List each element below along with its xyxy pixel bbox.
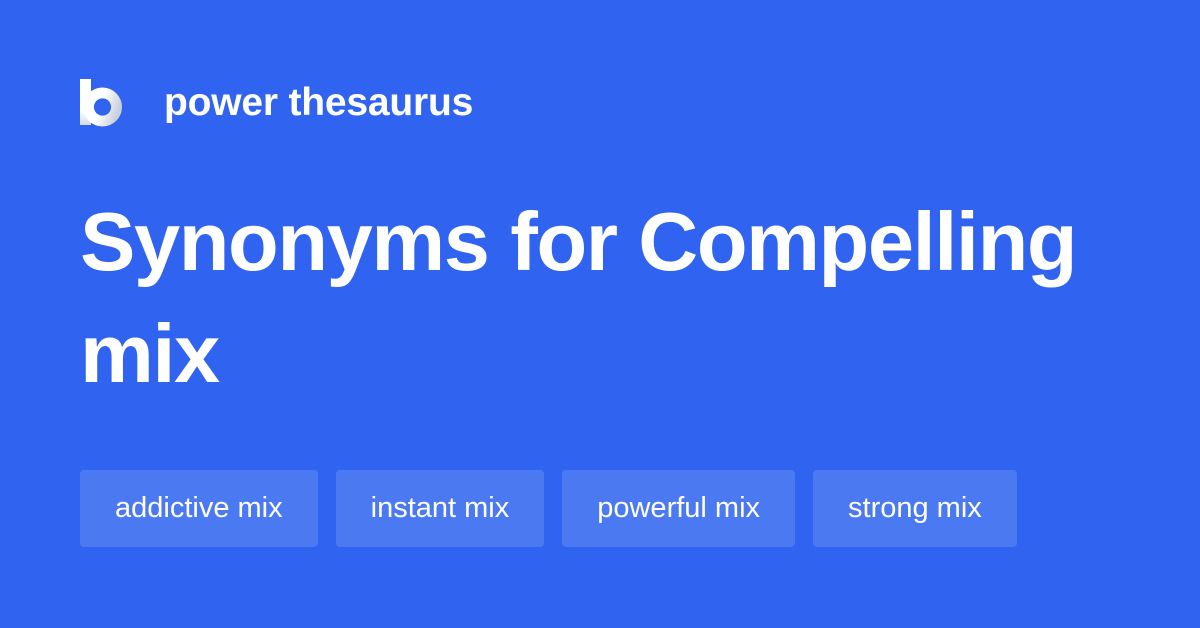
- synonym-chip-list: addictive mix instant mix powerful mix s…: [80, 470, 1017, 547]
- synonym-chip[interactable]: addictive mix: [80, 470, 318, 547]
- brand-logo[interactable]: power thesaurus: [80, 72, 473, 132]
- brand-name: power thesaurus: [164, 83, 473, 122]
- og-card: power thesaurus Synonyms for Compelling …: [0, 0, 1200, 628]
- synonym-chip[interactable]: powerful mix: [562, 470, 795, 547]
- synonym-chip[interactable]: instant mix: [336, 470, 545, 547]
- synonym-chip[interactable]: strong mix: [813, 470, 1017, 547]
- power-thesaurus-b-logo-icon: [80, 77, 122, 127]
- page-title: Synonyms for Compelling mix: [80, 186, 1130, 410]
